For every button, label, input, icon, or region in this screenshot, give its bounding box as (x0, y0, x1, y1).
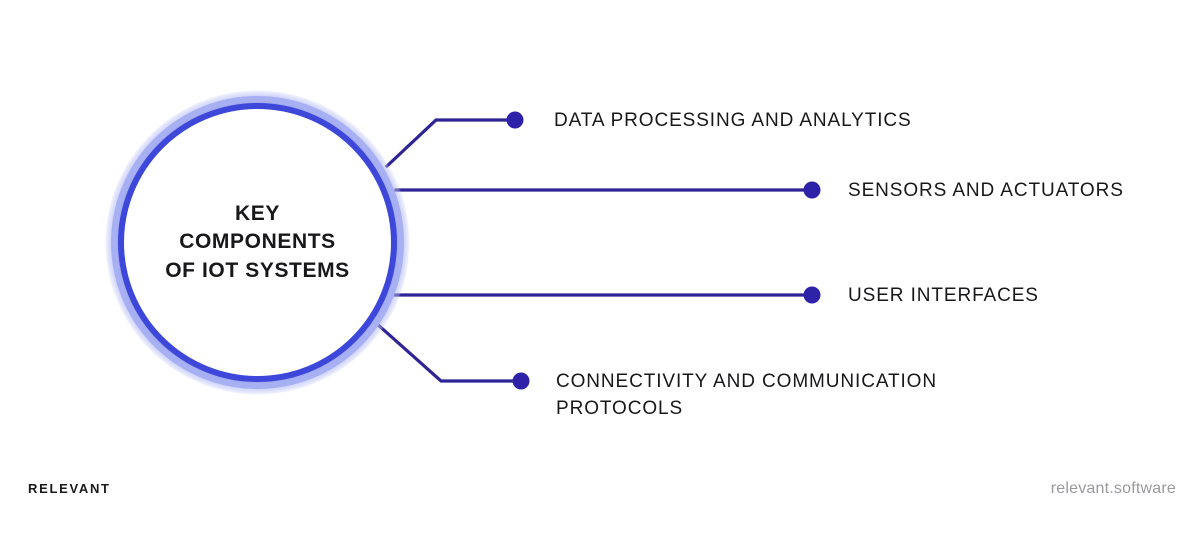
connector-dot-data-processing-and-analytics (507, 112, 524, 129)
infographic-canvas: KEY COMPONENTS OF IOT SYSTEMS DATA PROCE… (0, 0, 1200, 539)
central-hub: KEY COMPONENTS OF IOT SYSTEMS (105, 90, 410, 395)
connector-dot-connectivity-and-communication-protocols (513, 373, 530, 390)
hub-title-line-1: KEY (235, 200, 280, 229)
node-label-connectivity-and-communication-protocols: CONNECTIVITY AND COMMUNICATION PROTOCOLS (556, 369, 937, 422)
footer-brand-logo: RELEVANT (28, 481, 111, 496)
connector-dot-user-interfaces (804, 287, 821, 304)
hub-title-line-2: COMPONENTS (179, 228, 336, 257)
hub-title: KEY COMPONENTS OF IOT SYSTEMS (118, 103, 397, 382)
node-label-sensors-and-actuators: SENSORS AND ACTUATORS (848, 178, 1124, 205)
node-label-data-processing-and-analytics: DATA PROCESSING AND ANALYTICS (554, 108, 912, 135)
node-label-user-interfaces: USER INTERFACES (848, 283, 1039, 310)
connector-dot-sensors-and-actuators (804, 182, 821, 199)
hub-title-line-3: OF IOT SYSTEMS (165, 257, 350, 286)
footer-website-url: relevant.software (1051, 480, 1176, 498)
